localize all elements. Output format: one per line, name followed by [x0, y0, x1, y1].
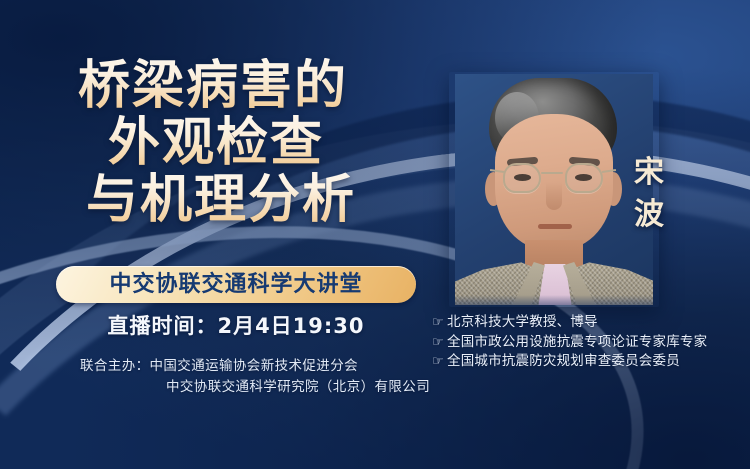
portrait-glasses-bridge — [541, 172, 563, 174]
speaker-name-char-1: 宋 — [626, 152, 674, 194]
pointing-hand-icon: ☞ — [432, 333, 447, 353]
title-line-2: 外观检查 — [0, 115, 440, 172]
organizers-block: 联合主办：中国交通运输协会新技术促进分会 中交协联交通科学研究院（北京）有限公司 — [56, 356, 446, 398]
speaker-credentials: ☞ 北京科技大学教授、博导 ☞ 全国市政公用设施抗震专项论证专家库专家 ☞ 全国… — [432, 313, 750, 372]
portrait-nose — [546, 182, 562, 210]
credential-row: ☞ 全国市政公用设施抗震专项论证专家库专家 — [432, 333, 750, 353]
credential-row: ☞ 北京科技大学教授、博导 — [432, 313, 750, 333]
portrait-glasses-lens-left — [503, 163, 541, 193]
live-time-text: 直播时间：2月4日19:30 — [56, 310, 416, 340]
title-line-3: 与机理分析 — [0, 172, 440, 229]
series-banner-label: 中交协联交通科学大讲堂 — [109, 274, 362, 296]
poster-title: 桥梁病害的 外观检查 与机理分析 — [0, 58, 440, 229]
series-banner: 中交协联交通科学大讲堂 — [56, 266, 416, 303]
title-line-1: 桥梁病害的 — [0, 58, 440, 115]
speaker-name-char-2: 波 — [626, 194, 674, 236]
portrait-mouth — [538, 224, 572, 229]
credential-text: 全国城市抗震防灾规划审查委员会委员 — [447, 352, 680, 372]
pointing-hand-icon: ☞ — [432, 313, 447, 333]
organizer-line-1: 联合主办：中国交通运输协会新技术促进分会 — [56, 356, 446, 377]
portrait-glasses-lens-right — [565, 163, 603, 193]
speaker-portrait-photo — [455, 74, 653, 305]
credential-row: ☞ 全国城市抗震防灾规划审查委员会委员 — [432, 352, 750, 372]
organizer-line-2: 中交协联交通科学研究院（北京）有限公司 — [56, 377, 446, 398]
portrait-bottom-fade — [455, 295, 653, 305]
speaker-name: 宋 波 — [626, 152, 674, 236]
credential-text: 全国市政公用设施抗震专项论证专家库专家 — [447, 333, 707, 353]
webinar-poster: 桥梁病害的 外观检查 与机理分析 中交协联交通科学大讲堂 直播时间：2月4日19… — [0, 0, 750, 469]
credential-text: 北京科技大学教授、博导 — [447, 313, 598, 333]
pointing-hand-icon: ☞ — [432, 352, 447, 372]
